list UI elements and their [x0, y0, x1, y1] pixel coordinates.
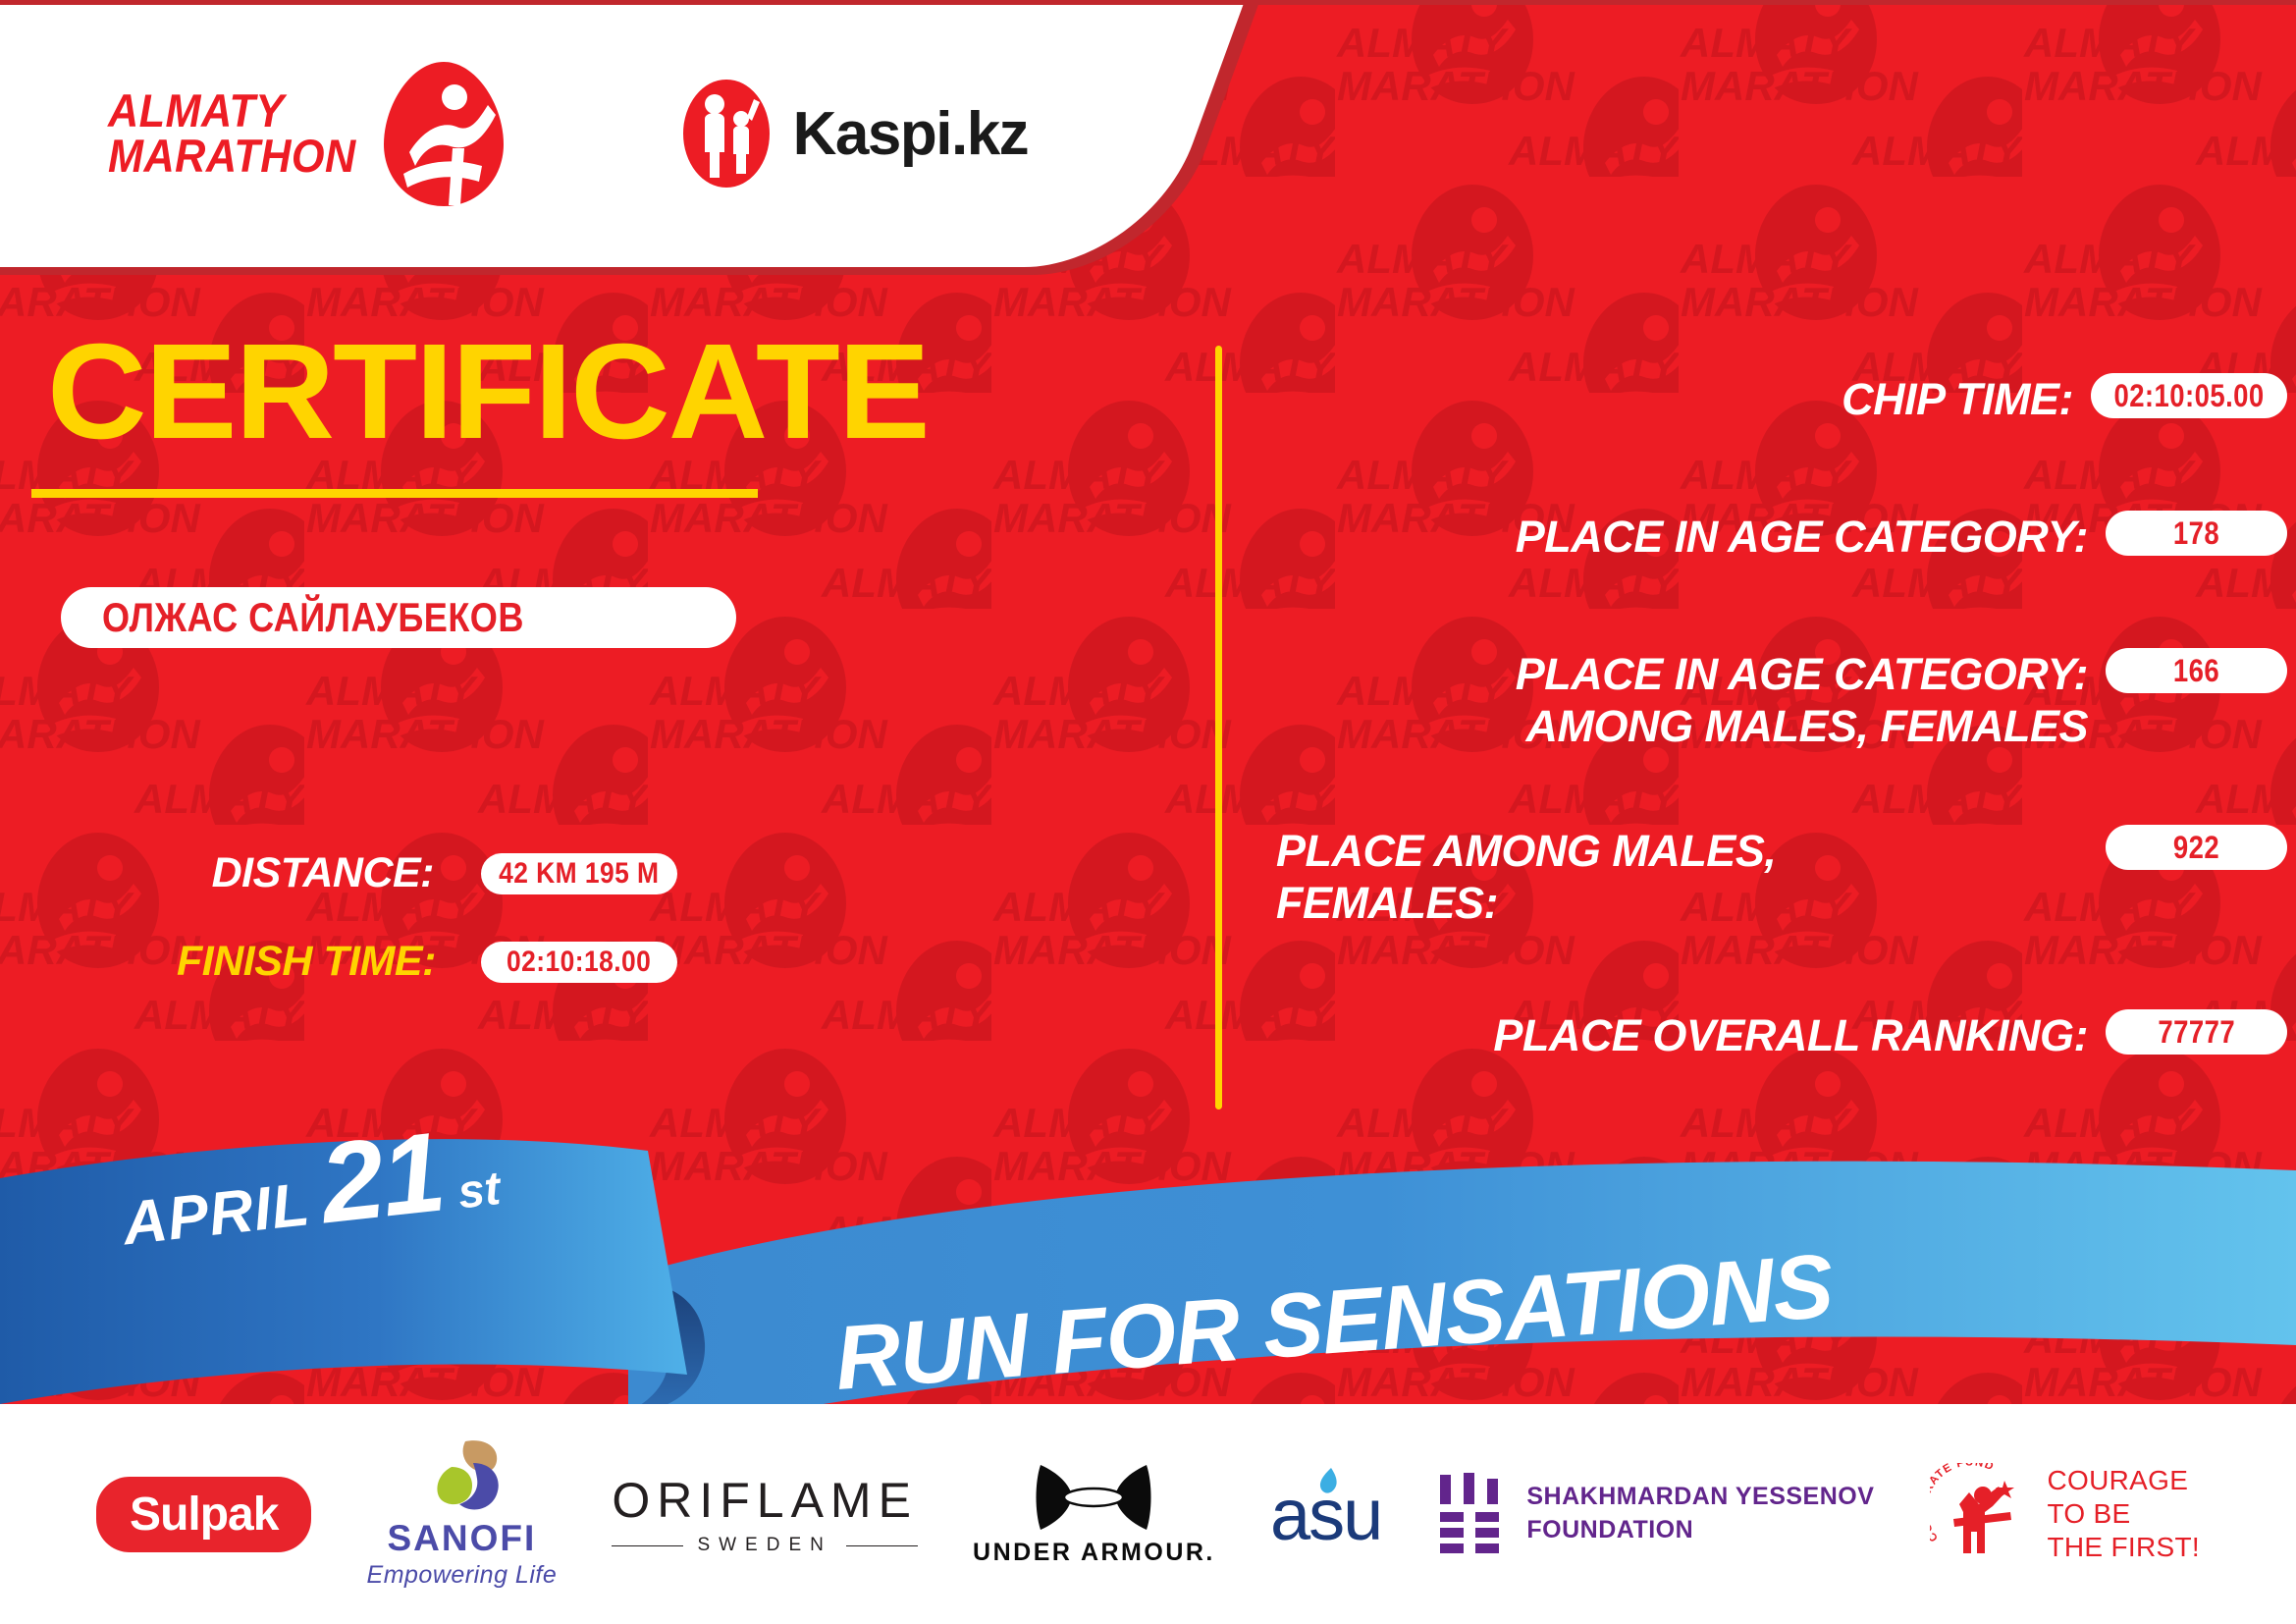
participant-name-value: ОЛЖАС САЙЛАУБЕКОВ — [102, 594, 524, 641]
under-armour-wordmark: UNDER ARMOUR. — [973, 1539, 1215, 1567]
oriflame-wordmark: ORIFLAME — [612, 1472, 918, 1529]
marathon-logo-line2: MARATHON — [108, 134, 356, 179]
finish-time-row: FINISH TIME: 02:10:18.00 — [177, 938, 805, 986]
divider-right — [846, 1545, 918, 1546]
distance-label: DISTANCE: — [177, 849, 434, 897]
kaspi-logo: Kaspi.kz — [679, 76, 1029, 191]
page-title: CERTIFICATE — [47, 324, 929, 460]
yessenov-line-2: FOUNDATION — [1526, 1514, 1874, 1547]
sponsor-sulpak: Sulpak — [96, 1477, 311, 1552]
oriflame-tagline: SWEDEN — [697, 1535, 831, 1556]
finish-time-label: FINISH TIME: — [177, 938, 434, 986]
ribbon-day: 21 — [316, 1121, 448, 1235]
sponsor-yessenov-foundation: SHAKHMARDAN YESSENOV FOUNDATION — [1436, 1473, 1874, 1555]
yessenov-wordmark: SHAKHMARDAN YESSENOV FOUNDATION — [1526, 1481, 1874, 1547]
chip-time-row: CHIP TIME: 02:10:05.00 — [1276, 373, 2287, 425]
oriflame-subline: SWEDEN — [612, 1535, 918, 1556]
sponsor-sanofi: SANOFI Empowering Life — [367, 1439, 558, 1590]
place-among-gender-value: 922 — [2106, 825, 2287, 870]
sanofi-wordmark: SANOFI — [388, 1518, 537, 1559]
place-age-category-label: PLACE IN AGE CATEGORY: — [1276, 511, 2088, 563]
almaty-marathon-wordmark: ALMATY MARATHON — [108, 88, 356, 179]
label-line-2: FEMALES: — [1276, 877, 2088, 929]
place-overall-ranking-row: PLACE OVERALL RANKING: 77777 — [1276, 1009, 2287, 1061]
label-line-2: AMONG MALES, FEMALES — [1276, 700, 2088, 752]
label-line-1: PLACE AMONG MALES, — [1276, 825, 2088, 877]
yessenov-line-1: SHAKHMARDAN YESSENOV — [1526, 1481, 1874, 1514]
courage-fund-logo: CORPORATE FUND COURAGE TO BE THE FIRST! — [1930, 1463, 2200, 1565]
place-overall-ranking-label: PLACE OVERALL RANKING: — [1276, 1009, 2088, 1061]
yessenov-mark-icon — [1436, 1473, 1505, 1555]
place-age-category-gender-label: PLACE IN AGE CATEGORY: AMONG MALES, FEMA… — [1276, 648, 2088, 752]
place-age-category-gender-value: 166 — [2106, 648, 2287, 693]
distance-value: 42 KM 195 M — [481, 853, 677, 894]
chip-time-label: CHIP TIME: — [1276, 373, 2073, 425]
asu-logo: asu — [1270, 1473, 1381, 1556]
label-line-1: PLACE IN AGE CATEGORY: — [1276, 648, 2088, 700]
ribbon-day-suffix: st — [455, 1162, 503, 1219]
marathon-logo-line1: ALMATY — [108, 88, 356, 134]
sanofi-tagline: Empowering Life — [367, 1561, 558, 1590]
divider-left — [612, 1545, 683, 1546]
participant-name-field: ОЛЖАС САЙЛАУБЕКОВ — [61, 587, 736, 648]
almaty-marathon-logo: ALMATY MARATHON — [108, 58, 507, 210]
under-armour-logo: UNDER ARMOUR. — [973, 1461, 1215, 1567]
column-divider — [1215, 346, 1222, 1110]
courage-runner-icon: CORPORATE FUND — [1930, 1463, 2032, 1565]
sanofi-mark-icon — [414, 1439, 508, 1516]
sponsor-courage-fund: CORPORATE FUND COURAGE TO BE THE FIRST! — [1930, 1463, 2200, 1565]
sponsor-under-armour: UNDER ARMOUR. — [973, 1461, 1215, 1567]
finish-time-value: 02:10:18.00 — [481, 942, 677, 983]
kaspi-people-icon — [679, 76, 774, 191]
place-age-category-gender-row: PLACE IN AGE CATEGORY: AMONG MALES, FEMA… — [1276, 648, 2287, 752]
sponsor-asu: asu — [1270, 1473, 1381, 1556]
place-age-category-value: 178 — [2106, 511, 2287, 556]
yessenov-logo: SHAKHMARDAN YESSENOV FOUNDATION — [1436, 1473, 1874, 1555]
certificate-page: ALMATY MARATHON ALMATY MARATHON — [0, 0, 2296, 1624]
sponsor-oriflame: ORIFLAME SWEDEN — [612, 1472, 918, 1556]
courage-line-3: THE FIRST! — [2048, 1531, 2200, 1564]
under-armour-mark-icon — [1031, 1461, 1156, 1534]
runner-drop-icon — [380, 58, 507, 210]
oriflame-logo: ORIFLAME SWEDEN — [612, 1472, 918, 1556]
asu-droplet-icon — [1315, 1467, 1343, 1496]
place-overall-ranking-value: 77777 — [2106, 1009, 2287, 1055]
header: ALMATY MARATHON Kaspi.kz — [0, 0, 1178, 267]
sanofi-logo: SANOFI Empowering Life — [367, 1439, 558, 1590]
distance-row: DISTANCE: 42 KM 195 M — [177, 849, 805, 897]
courage-line-1: COURAGE — [2048, 1464, 2200, 1497]
sulpak-logo: Sulpak — [96, 1477, 311, 1552]
sponsor-bar: Sulpak SANOFI Empowering Life ORIFLAME S… — [0, 1404, 2296, 1624]
place-age-category-row: PLACE IN AGE CATEGORY: 178 — [1276, 511, 2287, 563]
kaspi-wordmark: Kaspi.kz — [793, 99, 1029, 169]
courage-fund-wordmark: COURAGE TO BE THE FIRST! — [2048, 1464, 2200, 1564]
place-among-gender-row: PLACE AMONG MALES, FEMALES: 922 — [1276, 825, 2287, 929]
title-underline — [31, 489, 758, 498]
chip-time-value: 02:10:05.00 — [2091, 373, 2287, 418]
place-among-gender-label: PLACE AMONG MALES, FEMALES: — [1276, 825, 2088, 929]
courage-line-2: TO BE — [2048, 1497, 2200, 1531]
